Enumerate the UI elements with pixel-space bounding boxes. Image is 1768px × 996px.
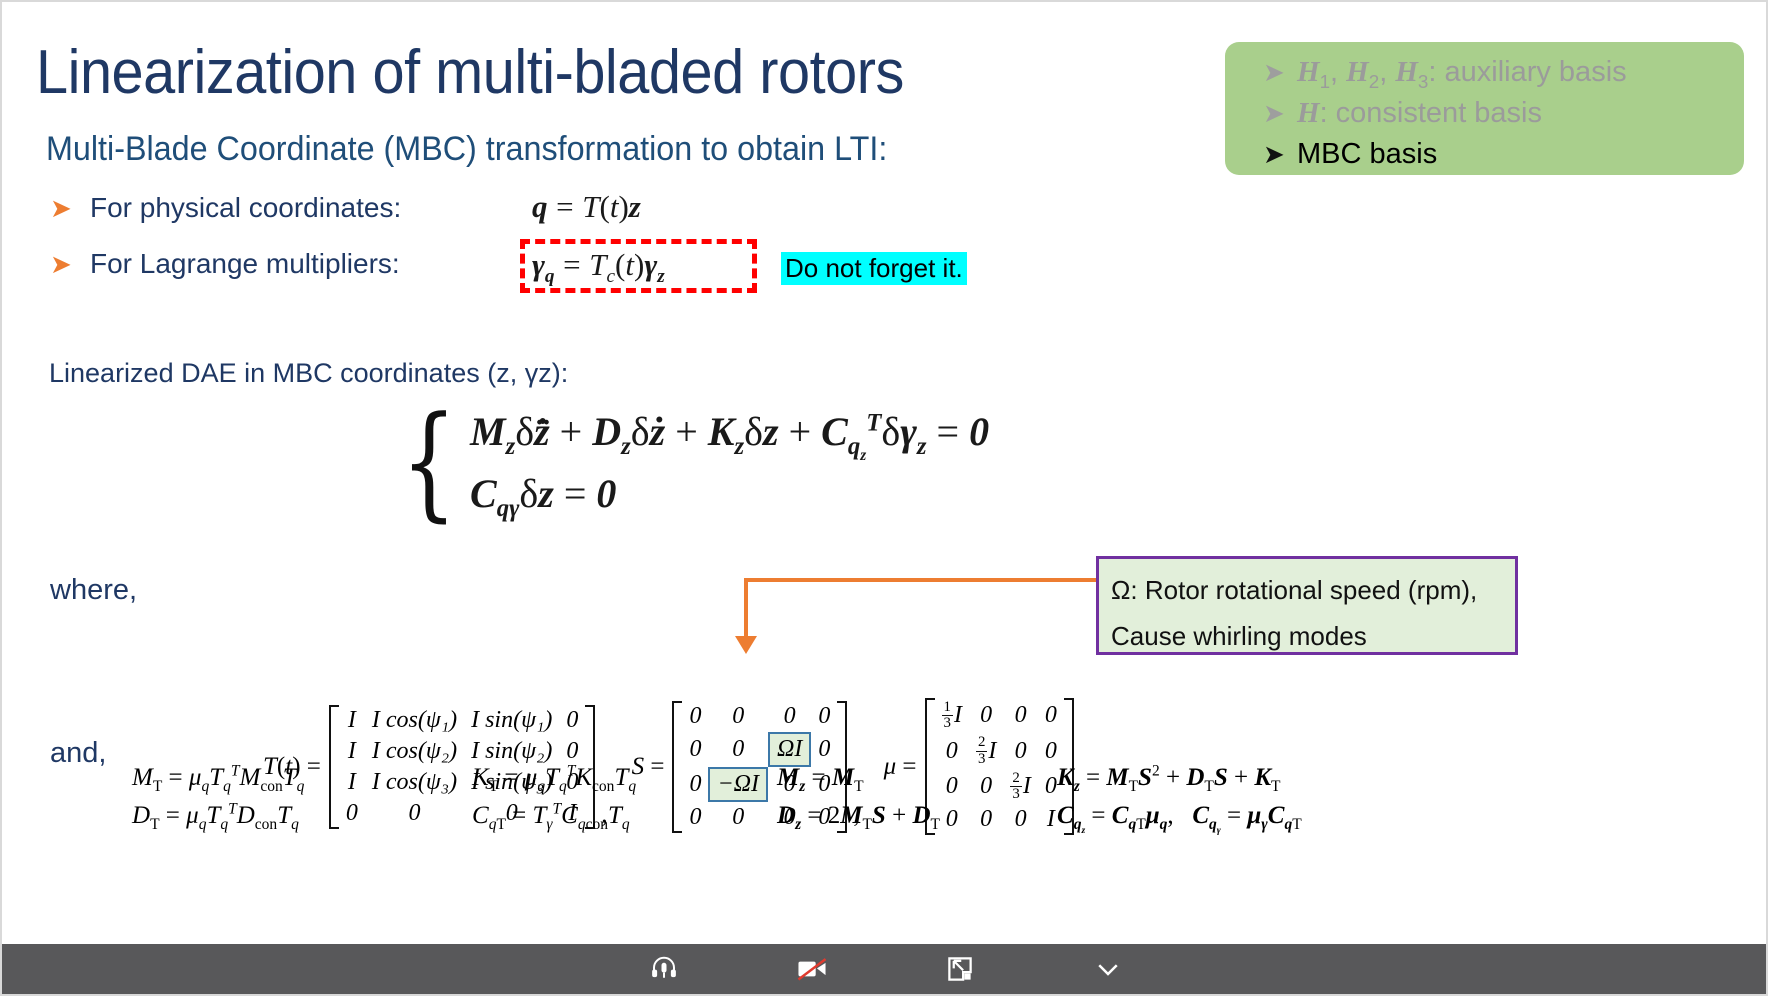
matrix-cell: 0 <box>969 698 1003 733</box>
linearized-dae-text: Linearized DAE in MBC coordinates (z, γᴢ… <box>49 358 568 388</box>
equation-column-1: MT = μqTqTMconTq DT = μqTqTDconTq <box>132 764 304 830</box>
page-title: Linearization of multi-bladed rotors <box>36 38 904 108</box>
bullet-physical-coordinates: ➤ For physical coordinates: <box>50 192 401 224</box>
arrow-bullet-icon: ➤ <box>50 194 90 224</box>
bullet-label: For physical coordinates: <box>90 192 401 224</box>
camera-off-icon[interactable] <box>792 949 832 989</box>
bullet-label: For Lagrange multipliers: <box>90 248 400 280</box>
matrix-cell: I <box>339 736 365 767</box>
callout-line-1: Ω: Rotor rotational speed (rpm), <box>1111 567 1503 613</box>
matrix-cell: 0 <box>708 732 768 767</box>
arrow-bullet-icon: ➤ <box>1263 142 1297 168</box>
arrow-bullet-icon: ➤ <box>1263 101 1297 127</box>
matrix-cell: 13I <box>935 698 969 733</box>
equation-gamma-transform: γq = Tc(t)γz <box>532 247 665 283</box>
meeting-toolbar <box>2 944 1768 994</box>
equation-q-transform: q = T(t)z <box>532 189 641 225</box>
matrix-cell: I <box>339 705 365 736</box>
highlight-note: Do not forget it. <box>781 252 967 285</box>
callout-line-2: Cause whirling modes <box>1111 613 1503 659</box>
matrix-cell: 0 <box>682 732 708 767</box>
equation-column-4: Kz = MTS2 + DTS + KT Cqz = CqTμq, Cqγ = … <box>1057 764 1302 831</box>
equation-KT: KT = μqTqTKconTq <box>472 764 636 792</box>
agenda-item-label: H: consistent basis <box>1297 97 1542 130</box>
linearized-dae-label: Linearized DAE in MBC coordinates (z, γᴢ… <box>49 358 568 389</box>
matrix-cell: 0 <box>559 705 585 736</box>
arrow-bullet-icon: ➤ <box>1263 60 1297 86</box>
linearized-dae-system: { Mzδz̈̇ + Dzδż + Kzδz + CqzTδγz = 0 Cq… <box>394 408 989 517</box>
omega-callout-box: Ω: Rotor rotational speed (rpm), Cause w… <box>1096 556 1518 655</box>
equation-MT: MT = μqTqTMconTq <box>132 764 304 792</box>
agenda-item-mbc-basis: ➤ MBC basis <box>1225 134 1744 175</box>
matrix-cell: 0 <box>811 732 837 767</box>
bullet-lagrange-multipliers: ➤ For Lagrange multipliers: <box>50 248 400 280</box>
agenda-item-h: ➤ H: consistent basis <box>1225 93 1744 134</box>
arrow-bullet-icon: ➤ <box>50 250 90 280</box>
definitions-equation-grid: MT = μqTqTMconTq DT = μqTqTDconTq KT = μ… <box>2 764 1768 854</box>
callout-arrow-head-icon <box>735 636 757 654</box>
matrix-cell: 0 <box>1038 698 1064 733</box>
matrix-cell: I cos(ψ₂) <box>365 736 464 767</box>
equation-column-2: KT = μqTqTKconTq CqT = TγTCqconTq <box>472 764 636 830</box>
headset-mute-icon[interactable] <box>644 949 684 989</box>
left-brace-glyph: { <box>401 402 457 523</box>
agenda-box: ➤ H1, H2, H3: auxiliary basis ➤ H: consi… <box>1225 42 1744 175</box>
equation-Dz: Dz = 2MTS + DT <box>777 802 940 830</box>
dae-equation-2: Cqγδz = 0 <box>470 470 989 517</box>
section-subheading: Multi-Blade Coordinate (MBC) transformat… <box>46 130 887 169</box>
chevron-down-icon[interactable] <box>1088 949 1128 989</box>
agenda-item-h123: ➤ H1, H2, H3: auxiliary basis <box>1225 52 1744 93</box>
callout-arrow-horizontal <box>744 578 1096 582</box>
matrix-cell: I sin(ψ₁) <box>464 705 559 736</box>
matrix-cell: I cos(ψ₁) <box>365 705 464 736</box>
equation-column-3: Mz = MT Dz = 2MTS + DT <box>777 764 940 830</box>
matrix-cell: 0 <box>811 701 837 732</box>
equation-Cqz: Cqz = CqTμq, Cqγ = μγCqT <box>1057 802 1302 831</box>
matrix-cell: I sin(ψ₂) <box>464 736 559 767</box>
dae-equation-1: Mzδz̈̇ + Dzδż + Kzδz + CqzTδγz = 0 <box>470 408 989 456</box>
agenda-item-label: MBC basis <box>1297 138 1437 171</box>
equation-Kz: Kz = MTS2 + DTS + KT <box>1057 764 1302 792</box>
equation-Mz: Mz = MT <box>777 764 940 792</box>
equation-CqT: CqT = TγTCqconTq <box>472 802 636 830</box>
share-screen-icon[interactable] <box>940 949 980 989</box>
slide-canvas: Linearization of multi-bladed rotors ➤ H… <box>0 0 1768 996</box>
matrix-cell: 0 <box>682 701 708 732</box>
matrix-cell-highlighted: ΩI <box>768 732 811 767</box>
agenda-item-label: H1, H2, H3: auxiliary basis <box>1297 56 1627 89</box>
equation-DT: DT = μqTqTDconTq <box>132 802 304 830</box>
where-label: where, <box>50 574 137 607</box>
matrix-cell: 0 <box>708 701 768 732</box>
matrix-cell: 0 <box>1003 698 1037 733</box>
matrix-cell: 0 <box>768 701 811 732</box>
